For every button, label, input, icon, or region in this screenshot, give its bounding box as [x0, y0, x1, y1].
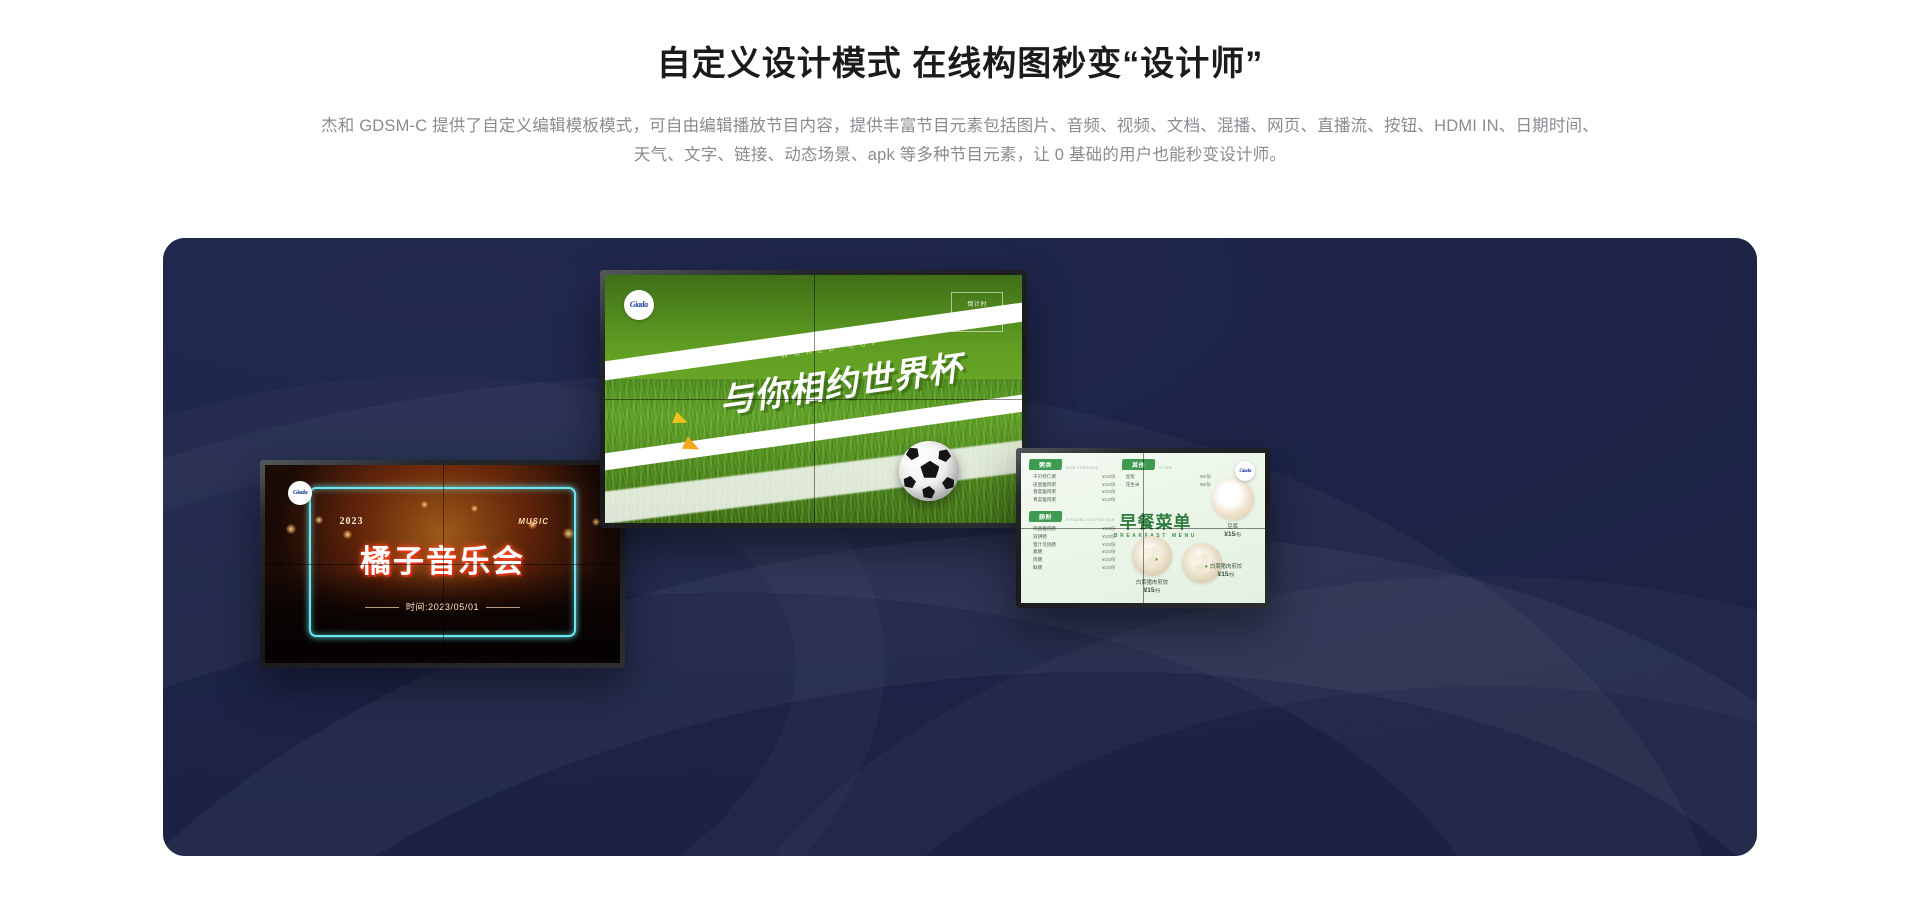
countdown-badge: 倒计时 2 天 — [951, 292, 1003, 332]
menu-item-name: 皮蛋瘦肉粥 — [1033, 482, 1056, 488]
menu-item-price: ¥15/份 — [1102, 565, 1116, 571]
countdown-unit: 天 — [979, 315, 986, 325]
menu-item: 鲜肠 ¥15/份 — [1033, 564, 1116, 572]
heading-block: 自定义设计模式 在线构图秒变“设计师” 杰和 GDSM-C 提供了自定义编辑模板… — [0, 0, 1920, 170]
menu-section-heading-en: RICE PORRIDGE — [1066, 466, 1098, 470]
food-photo-dumpling-a — [1132, 536, 1172, 576]
menu-section-heading: 粥类 — [1029, 459, 1063, 470]
screen-panel: 2023 MUSIC 橘子音乐会 时间:2023/05/01 Giada — [265, 465, 620, 663]
soccer-ball-icon — [899, 441, 959, 501]
logo-text: Giada — [293, 489, 307, 496]
featured-price-value: ¥15 — [1144, 587, 1155, 594]
countdown-label: 倒计时 — [967, 299, 987, 308]
featured-item-name: 白菜猪肉煎饺 — [1195, 562, 1257, 570]
screen-bezel: 2023 MUSIC 橘子音乐会 时间:2023/05/01 Giada — [260, 460, 625, 668]
menu-item-name: 双拼肠 — [1033, 534, 1047, 540]
menu-item-name: 干贝虾仁粥 — [1033, 474, 1056, 480]
menu-section-porridge: 粥类 RICE PORRIDGE 干贝虾仁粥 ¥15/份 — [1029, 459, 1116, 504]
featured-item-soymilk: 豆浆 ¥15/份 — [1210, 478, 1256, 538]
menu-item-name: 鲜肠 — [1033, 565, 1042, 571]
menu-item-price: ¥15/份 — [1102, 482, 1116, 488]
giada-logo-icon: Giada — [288, 481, 312, 505]
featured-price-unit: /份 — [1155, 588, 1161, 593]
page-title: 自定义设计模式 在线构图秒变“设计师” — [0, 42, 1920, 86]
menu-center-title: 早餐菜单 — [1103, 514, 1209, 531]
screen-panel: WORLD CUP 与你相约世界杯 倒计时 2 天 — [605, 275, 1022, 523]
menu-section-other: 其他 OTHER 豆浆 ¥5/份 — [1122, 459, 1211, 489]
menu-item-price: ¥15/份 — [1102, 489, 1116, 495]
featured-item-price: ¥15/份 — [1127, 587, 1177, 594]
featured-caption-dumpling-b: 白菜猪肉煎饺 ¥15/份 — [1195, 562, 1257, 578]
menu-section-heading: 肠粉 — [1029, 511, 1063, 522]
display-screen-menu[interactable]: 粥类 RICE PORRIDGE 干贝虾仁粥 ¥15/份 — [1016, 448, 1270, 608]
menu-item-price: ¥12/份 — [1102, 497, 1116, 503]
menu-item-price: ¥15/份 — [1102, 557, 1116, 563]
featured-price-unit: /份 — [1229, 572, 1235, 577]
hero-card: 2023 MUSIC 橘子音乐会 时间:2023/05/01 Giada — [163, 238, 1757, 856]
screen-panel: 粥类 RICE PORRIDGE 干贝虾仁粥 ¥15/份 — [1021, 453, 1265, 603]
menu-item-name: 青菜瘦肉粥 — [1033, 497, 1056, 503]
page-root: 自定义设计模式 在线构图秒变“设计师” 杰和 GDSM-C 提供了自定义编辑模板… — [0, 0, 1920, 920]
page-description: 杰和 GDSM-C 提供了自定义编辑模板模式，可自由编辑播放节目内容，提供丰富节… — [315, 112, 1605, 170]
food-photo-soymilk — [1212, 478, 1254, 520]
concert-year: 2023 — [340, 516, 364, 527]
featured-item-price: ¥15/份 — [1210, 531, 1256, 538]
menu-item-price: ¥15/份 — [1102, 549, 1116, 555]
logo-text: Giada — [1239, 468, 1251, 474]
screen-bezel: 粥类 RICE PORRIDGE 干贝虾仁粥 ¥15/份 — [1016, 448, 1270, 608]
menu-background: 粥类 RICE PORRIDGE 干贝虾仁粥 ¥15/份 — [1021, 453, 1265, 603]
featured-price-unit: /份 — [1235, 532, 1241, 537]
menu-item: 青菜瘦肉粥 ¥12/份 — [1033, 496, 1116, 504]
display-screen-worldcup[interactable]: WORLD CUP 与你相约世界杯 倒计时 2 天 — [600, 270, 1027, 528]
display-screen-concert[interactable]: 2023 MUSIC 橘子音乐会 时间:2023/05/01 Giada — [260, 460, 625, 668]
countdown-value: 2 — [968, 308, 977, 325]
giada-logo-icon: Giada — [1235, 461, 1255, 481]
featured-item-price: ¥15/份 — [1195, 571, 1257, 578]
menu-item-price: ¥15/份 — [1102, 474, 1116, 480]
featured-item-dumpling-a: 白菜猪肉煎饺 ¥15/份 — [1127, 536, 1177, 594]
menu-item: 皮蛋瘦肉粥 ¥15/份 — [1033, 481, 1116, 489]
concert-music-label: MUSIC — [518, 517, 549, 526]
menu-item-name: 肉肠 — [1033, 557, 1042, 563]
screen-bezel: WORLD CUP 与你相约世界杯 倒计时 2 天 — [600, 270, 1027, 528]
featured-price-value: ¥15 — [1218, 571, 1229, 578]
menu-section-heading-en: OTHER — [1159, 466, 1173, 470]
featured-price-value: ¥15 — [1224, 531, 1235, 538]
concert-date: 时间:2023/05/01 — [265, 600, 620, 613]
menu-item-name: 花生米 — [1126, 482, 1140, 488]
menu-item-name: 素肠 — [1033, 549, 1042, 555]
menu-item-name: 香菇瘦肉粥 — [1033, 489, 1056, 495]
concert-title: 橘子音乐会 — [265, 536, 620, 581]
featured-item-name: 白菜猪肉煎饺 — [1127, 578, 1177, 586]
menu-item: 豆浆 ¥5/份 — [1126, 473, 1211, 481]
menu-item: 素肠 ¥15/份 — [1033, 548, 1116, 556]
menu-item: 干贝虾仁粥 ¥15/份 — [1033, 473, 1116, 481]
logo-text: Giada — [630, 300, 648, 309]
menu-item-name: 鸡蛋瘦肉肠 — [1033, 526, 1056, 532]
menu-item: 蜜汁叉烧肠 ¥15/份 — [1033, 541, 1116, 549]
featured-item-name: 豆浆 — [1210, 522, 1256, 530]
menu-item: 花生米 ¥5/份 — [1126, 481, 1211, 489]
giada-logo-icon: Giada — [624, 290, 654, 320]
menu-item: 香菇瘦肉粥 ¥15/份 — [1033, 489, 1116, 497]
menu-item-price: ¥15/份 — [1102, 542, 1116, 548]
menu-item-name: 蜜汁叉烧肠 — [1033, 542, 1056, 548]
menu-item: 肉肠 ¥15/份 — [1033, 556, 1116, 564]
menu-item-name: 豆浆 — [1126, 474, 1135, 480]
menu-section-heading: 其他 — [1121, 459, 1155, 470]
